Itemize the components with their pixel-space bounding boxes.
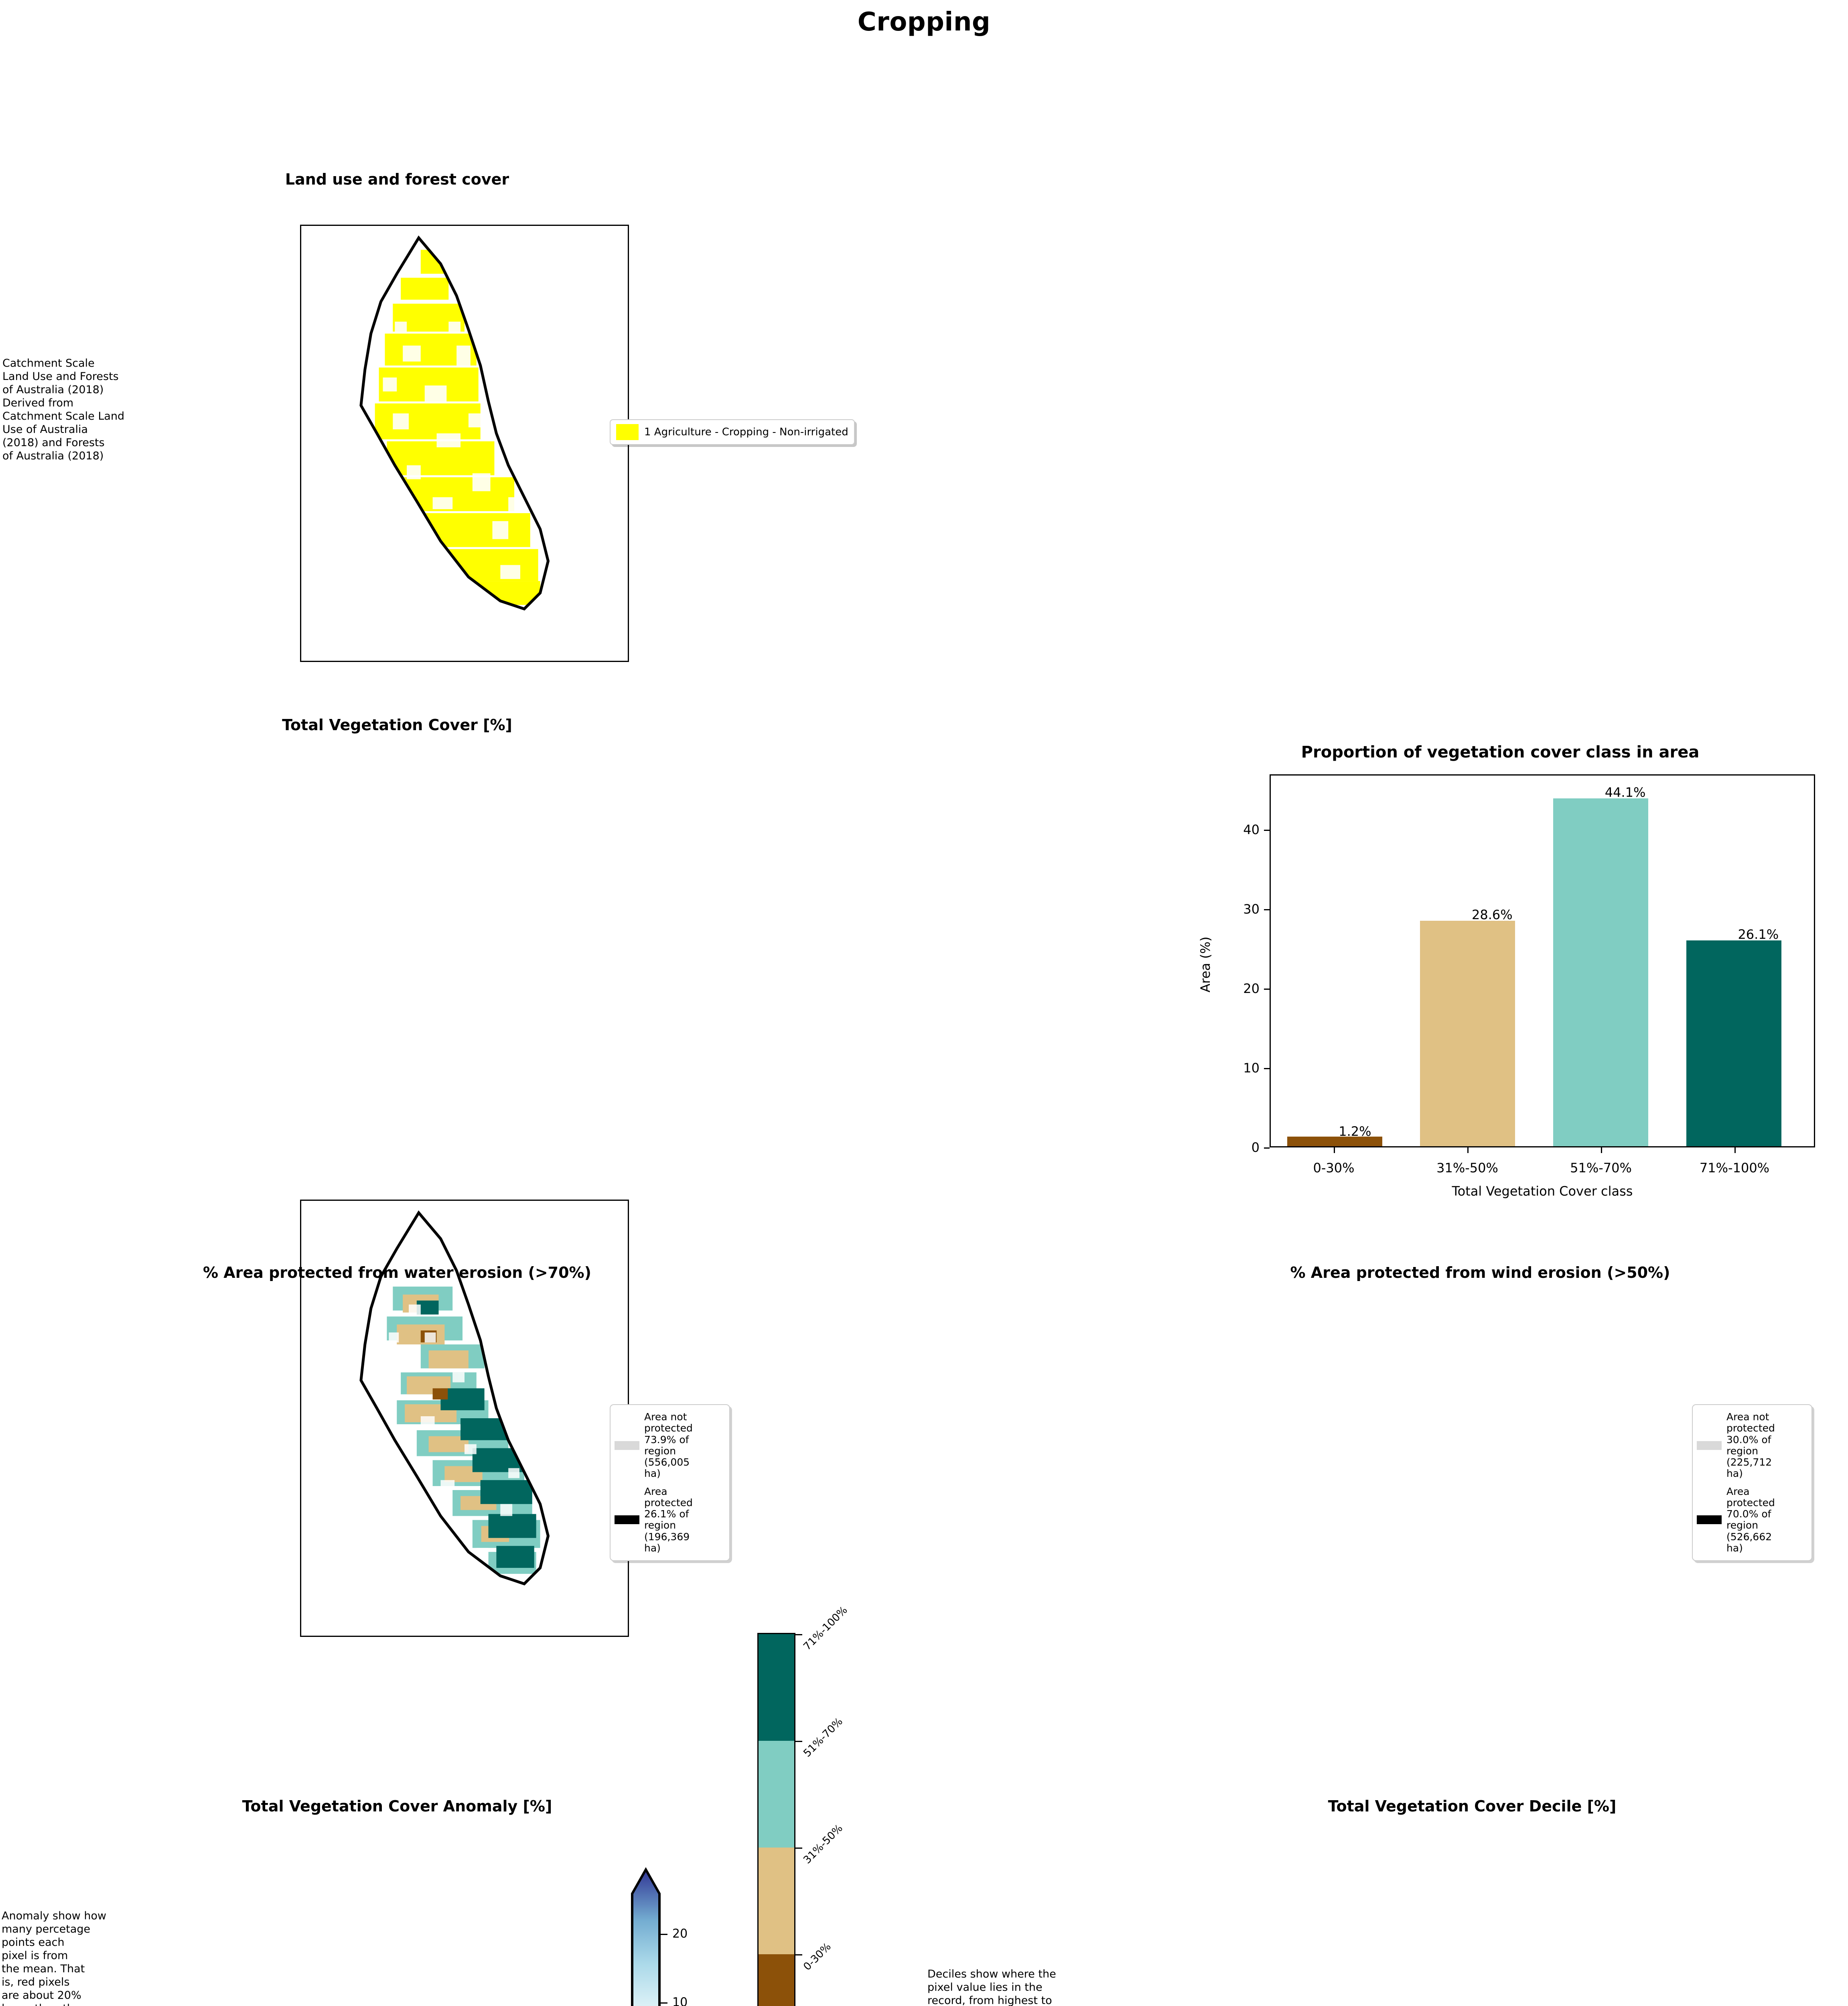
anomaly-panel-title: Total Vegetation Cover Anomaly [%]: [116, 1797, 678, 1815]
wind-erosion-legend: Area not protected 30.0% of region (225,…: [1692, 1404, 1812, 1561]
y-tick-label-10: 10: [1223, 1060, 1260, 1076]
legend-item-not-protected: Area not protected 73.9% of region (556,…: [615, 1411, 725, 1480]
land-use-map: [300, 225, 629, 662]
bar-51-70: [1553, 798, 1648, 1146]
veg-colorbar-label-71-100: 71%-100%: [801, 1604, 850, 1653]
land-use-panel-title: Land use and forest cover: [156, 171, 638, 188]
veg-colorbar-label-51-70: 51%-70%: [801, 1716, 845, 1760]
veg-cover-colorbar-segment-0-30: [759, 1954, 794, 2006]
x-tick-label-31-50: 31%-50%: [1436, 1160, 1498, 1176]
poster-page: Cropping Land use and forest cover Catch…: [0, 0, 1848, 2006]
anomaly-tick-20: 20: [672, 1927, 688, 1941]
bar-chart-x-axis-label: Total Vegetation Cover class: [1270, 1184, 1815, 1199]
x-tick-label-51-70: 51%-70%: [1570, 1160, 1632, 1176]
bar-chart-plot-area: 1.2% 28.6% 44.1% 26.1%: [1270, 774, 1815, 1147]
veg-cover-colorbar-segment-71-100: [759, 1634, 794, 1741]
cropping-legend-swatch: [616, 424, 639, 440]
protected-label: Area protected 26.1% of region (196,369 …: [644, 1486, 693, 1554]
bar-value-label-0-30: 1.2%: [1339, 1124, 1371, 1139]
veg-cover-colorbar-segment-51-70: [759, 1741, 794, 1848]
not-protected-swatch: [615, 1441, 639, 1450]
bar-value-label-31-50: 28.6%: [1472, 907, 1513, 922]
y-tick-label-0: 0: [1223, 1140, 1260, 1155]
water-erosion-legend: Area not protected 73.9% of region (556,…: [610, 1404, 730, 1561]
page-title: Cropping: [0, 7, 1848, 37]
y-tick-label-40: 40: [1223, 822, 1260, 837]
anomaly-colorbar: [630, 1862, 662, 2006]
veg-colorbar-label-0-30: 0-30%: [801, 1941, 833, 1973]
bar-71-100: [1686, 940, 1781, 1146]
veg-class-bar-chart: Proportion of vegetation cover class in …: [1175, 774, 1825, 1212]
protected-swatch: [1697, 1515, 1722, 1524]
x-tick-label-0-30: 0-30%: [1313, 1160, 1354, 1176]
wind-erosion-panel-title: % Area protected from wind erosion (>50%…: [1175, 1264, 1785, 1281]
legend-item-not-protected: Area not protected 30.0% of region (225,…: [1697, 1411, 1807, 1480]
land-use-source-note: Catchment Scale Land Use and Forests of …: [2, 357, 179, 463]
legend-item-protected: Area protected 26.1% of region (196,369 …: [615, 1486, 725, 1554]
land-use-map-svg: [301, 226, 628, 661]
anomaly-explanation-note: Anomaly show how many percetage points e…: [2, 1910, 170, 2006]
cropping-pixels: [375, 250, 540, 605]
bar-chart-title: Proportion of vegetation cover class in …: [1175, 743, 1825, 761]
y-tick-label-30: 30: [1223, 901, 1260, 917]
veg-cover-panel-title: Total Vegetation Cover [%]: [132, 716, 662, 734]
not-protected-label: Area not protected 73.9% of region (556,…: [644, 1411, 693, 1480]
anomaly-colorbar-wrapper: 20 10 0 −10 −20: [630, 1862, 734, 2006]
bar-chart-y-axis-label: Area (%): [1198, 914, 1213, 1015]
anomaly-tick-10: 10: [672, 1995, 688, 2006]
veg-cover-colorbar-segment-31-50: [759, 1848, 794, 1954]
decile-panel-title: Total Vegetation Cover Decile [%]: [1191, 1797, 1753, 1815]
protected-swatch: [615, 1515, 639, 1524]
not-protected-label: Area not protected 30.0% of region (225,…: [1726, 1411, 1775, 1480]
protected-label: Area protected 70.0% of region (526,662 …: [1726, 1486, 1775, 1554]
y-tick-label-20: 20: [1223, 981, 1260, 996]
veg-colorbar-label-31-50: 31%-50%: [801, 1822, 845, 1866]
x-tick-label-71-100: 71%-100%: [1700, 1160, 1769, 1176]
decile-explanation-note: Deciles show where the pixel value lies …: [927, 1968, 1176, 2006]
legend-item-protected: Area protected 70.0% of region (526,662 …: [1697, 1486, 1807, 1554]
veg-cover-colorbar: 71%-100% 51%-70% 31%-50% 0-30%: [757, 1633, 795, 2006]
water-erosion-panel-title: % Area protected from water erosion (>70…: [92, 1264, 702, 1281]
land-use-legend: 1 Agriculture - Cropping - Non-irrigated: [610, 419, 855, 445]
cropping-legend-label: 1 Agriculture - Cropping - Non-irrigated: [644, 426, 848, 438]
bar-value-label-71-100: 26.1%: [1738, 927, 1779, 942]
bar-value-label-51-70: 44.1%: [1605, 785, 1646, 800]
not-protected-swatch: [1697, 1441, 1722, 1450]
bar-31-50: [1420, 921, 1515, 1146]
